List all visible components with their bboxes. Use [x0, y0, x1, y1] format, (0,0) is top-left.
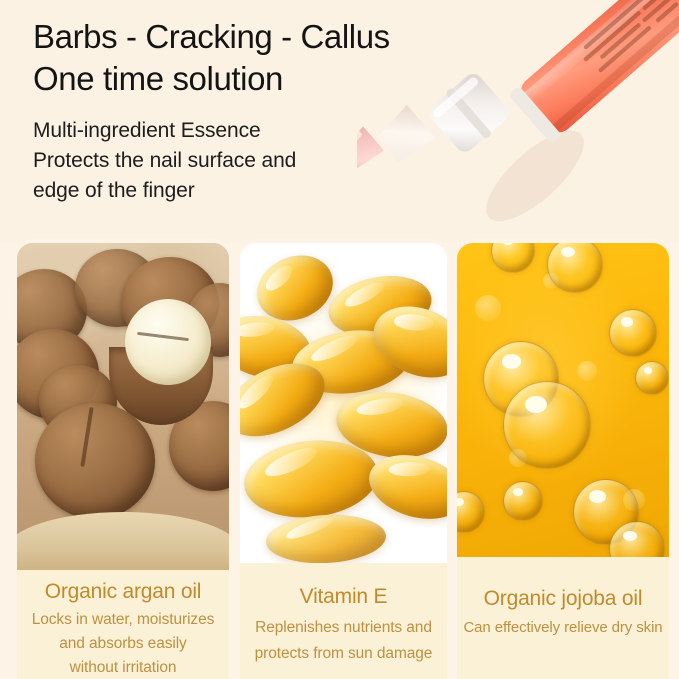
subhead-line-1: Multi-ingredient Essence [33, 116, 553, 146]
subhead-block: Multi-ingredient Essence Protects the na… [33, 116, 553, 206]
softgel-capsules-illustration [240, 243, 447, 563]
argan-body-line-2: and absorbs easily [23, 632, 223, 656]
argan-body: Locks in water, moisturizes and absorbs … [23, 604, 223, 679]
argan-title: Organic argan oil [23, 570, 223, 604]
vitamin-e-title: Vitamin E [246, 563, 441, 609]
hero-banner: Barbs - Cracking - Callus One time solut… [0, 0, 679, 243]
jojoba-title: Organic jojoba oil [463, 557, 663, 611]
headline-line-1: Barbs - Cracking - Callus [33, 16, 553, 58]
subhead-line-2: Protects the nail surface and [33, 146, 553, 176]
wooden-bowl [17, 512, 229, 570]
headline-line-2: One time solution [33, 58, 553, 100]
vitamin-e-body: Replenishes nutrients and protects from … [246, 609, 441, 667]
argan-photo [17, 243, 229, 570]
jojoba-photo [457, 243, 669, 557]
subhead-line-3: edge of the finger [33, 176, 553, 206]
jojoba-caption: Organic jojoba oil Can effectively relie… [457, 557, 669, 641]
jojoba-body-line-1: Can effectively relieve dry skin [463, 615, 663, 641]
ingredient-card-vitamin-e: Vitamin E Replenishes nutrients and prot… [240, 243, 447, 679]
macadamia-nuts-illustration [17, 243, 229, 570]
hero-text-block: Barbs - Cracking - Callus One time solut… [33, 16, 553, 206]
jojoba-body: Can effectively relieve dry skin [463, 611, 663, 641]
argan-caption: Organic argan oil Locks in water, moistu… [17, 570, 229, 679]
vitamin-e-photo [240, 243, 447, 563]
vitamin-e-body-line-1: Replenishes nutrients and [246, 615, 441, 641]
vitamin-e-caption: Vitamin E Replenishes nutrients and prot… [240, 563, 447, 667]
argan-body-line-3: without irritation [23, 656, 223, 679]
ingredient-card-jojoba: Organic jojoba oil Can effectively relie… [457, 243, 669, 679]
jojoba-oil-illustration [457, 243, 669, 557]
vitamin-e-body-line-2: protects from sun damage [246, 641, 441, 667]
argan-body-line-1: Locks in water, moisturizes [23, 608, 223, 632]
ingredient-cards: Organic argan oil Locks in water, moistu… [0, 243, 679, 679]
ingredient-card-argan: Organic argan oil Locks in water, moistu… [17, 243, 229, 679]
